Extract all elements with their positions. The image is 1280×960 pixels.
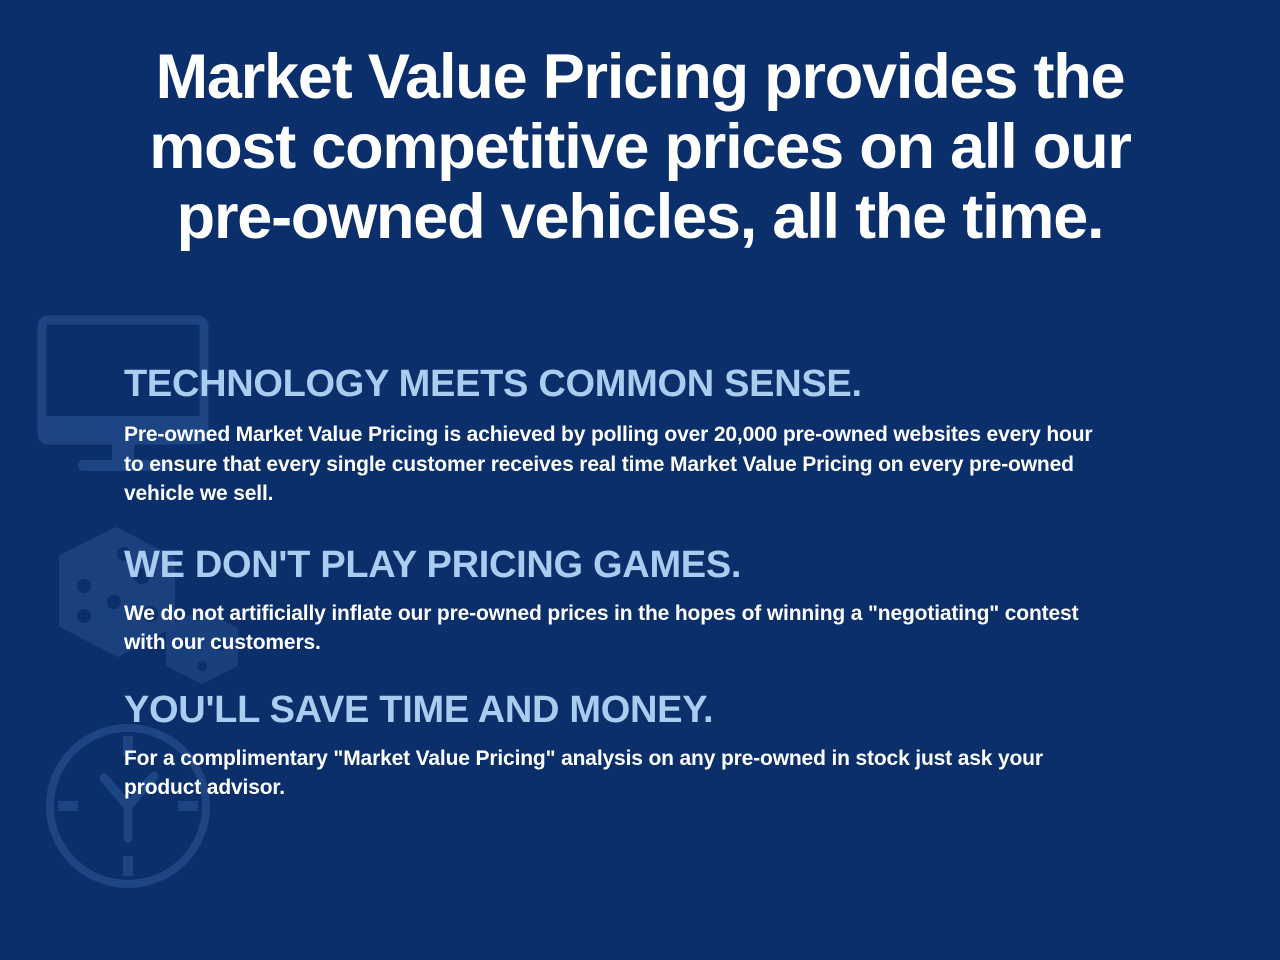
title-line-1: Market Value Pricing provides the: [0, 42, 1280, 112]
section-pricing-games: WE DON'T PLAY PRICING GAMES. We do not a…: [124, 543, 1124, 658]
section-save-time-money: YOU'LL SAVE TIME AND MONEY. For a compli…: [124, 688, 1124, 803]
title-line-3: pre-owned vehicles, all the time.: [0, 182, 1280, 252]
title-line-2: most competitive prices on all our: [0, 112, 1280, 182]
section-heading: WE DON'T PLAY PRICING GAMES.: [124, 543, 1124, 587]
section-heading: TECHNOLOGY MEETS COMMON SENSE.: [124, 362, 1124, 406]
section-heading: YOU'LL SAVE TIME AND MONEY.: [124, 688, 1124, 732]
section-body: Pre-owned Market Value Pricing is achiev…: [124, 420, 1099, 509]
slide-canvas: Market Value Pricing provides the most c…: [0, 0, 1280, 960]
section-body: For a complimentary "Market Value Pricin…: [124, 744, 1099, 803]
slide-title: Market Value Pricing provides the most c…: [0, 42, 1280, 252]
sections-list: TECHNOLOGY MEETS COMMON SENSE. Pre-owned…: [124, 362, 1124, 803]
section-technology: TECHNOLOGY MEETS COMMON SENSE. Pre-owned…: [124, 362, 1124, 509]
section-body: We do not artificially inflate our pre-o…: [124, 599, 1099, 658]
